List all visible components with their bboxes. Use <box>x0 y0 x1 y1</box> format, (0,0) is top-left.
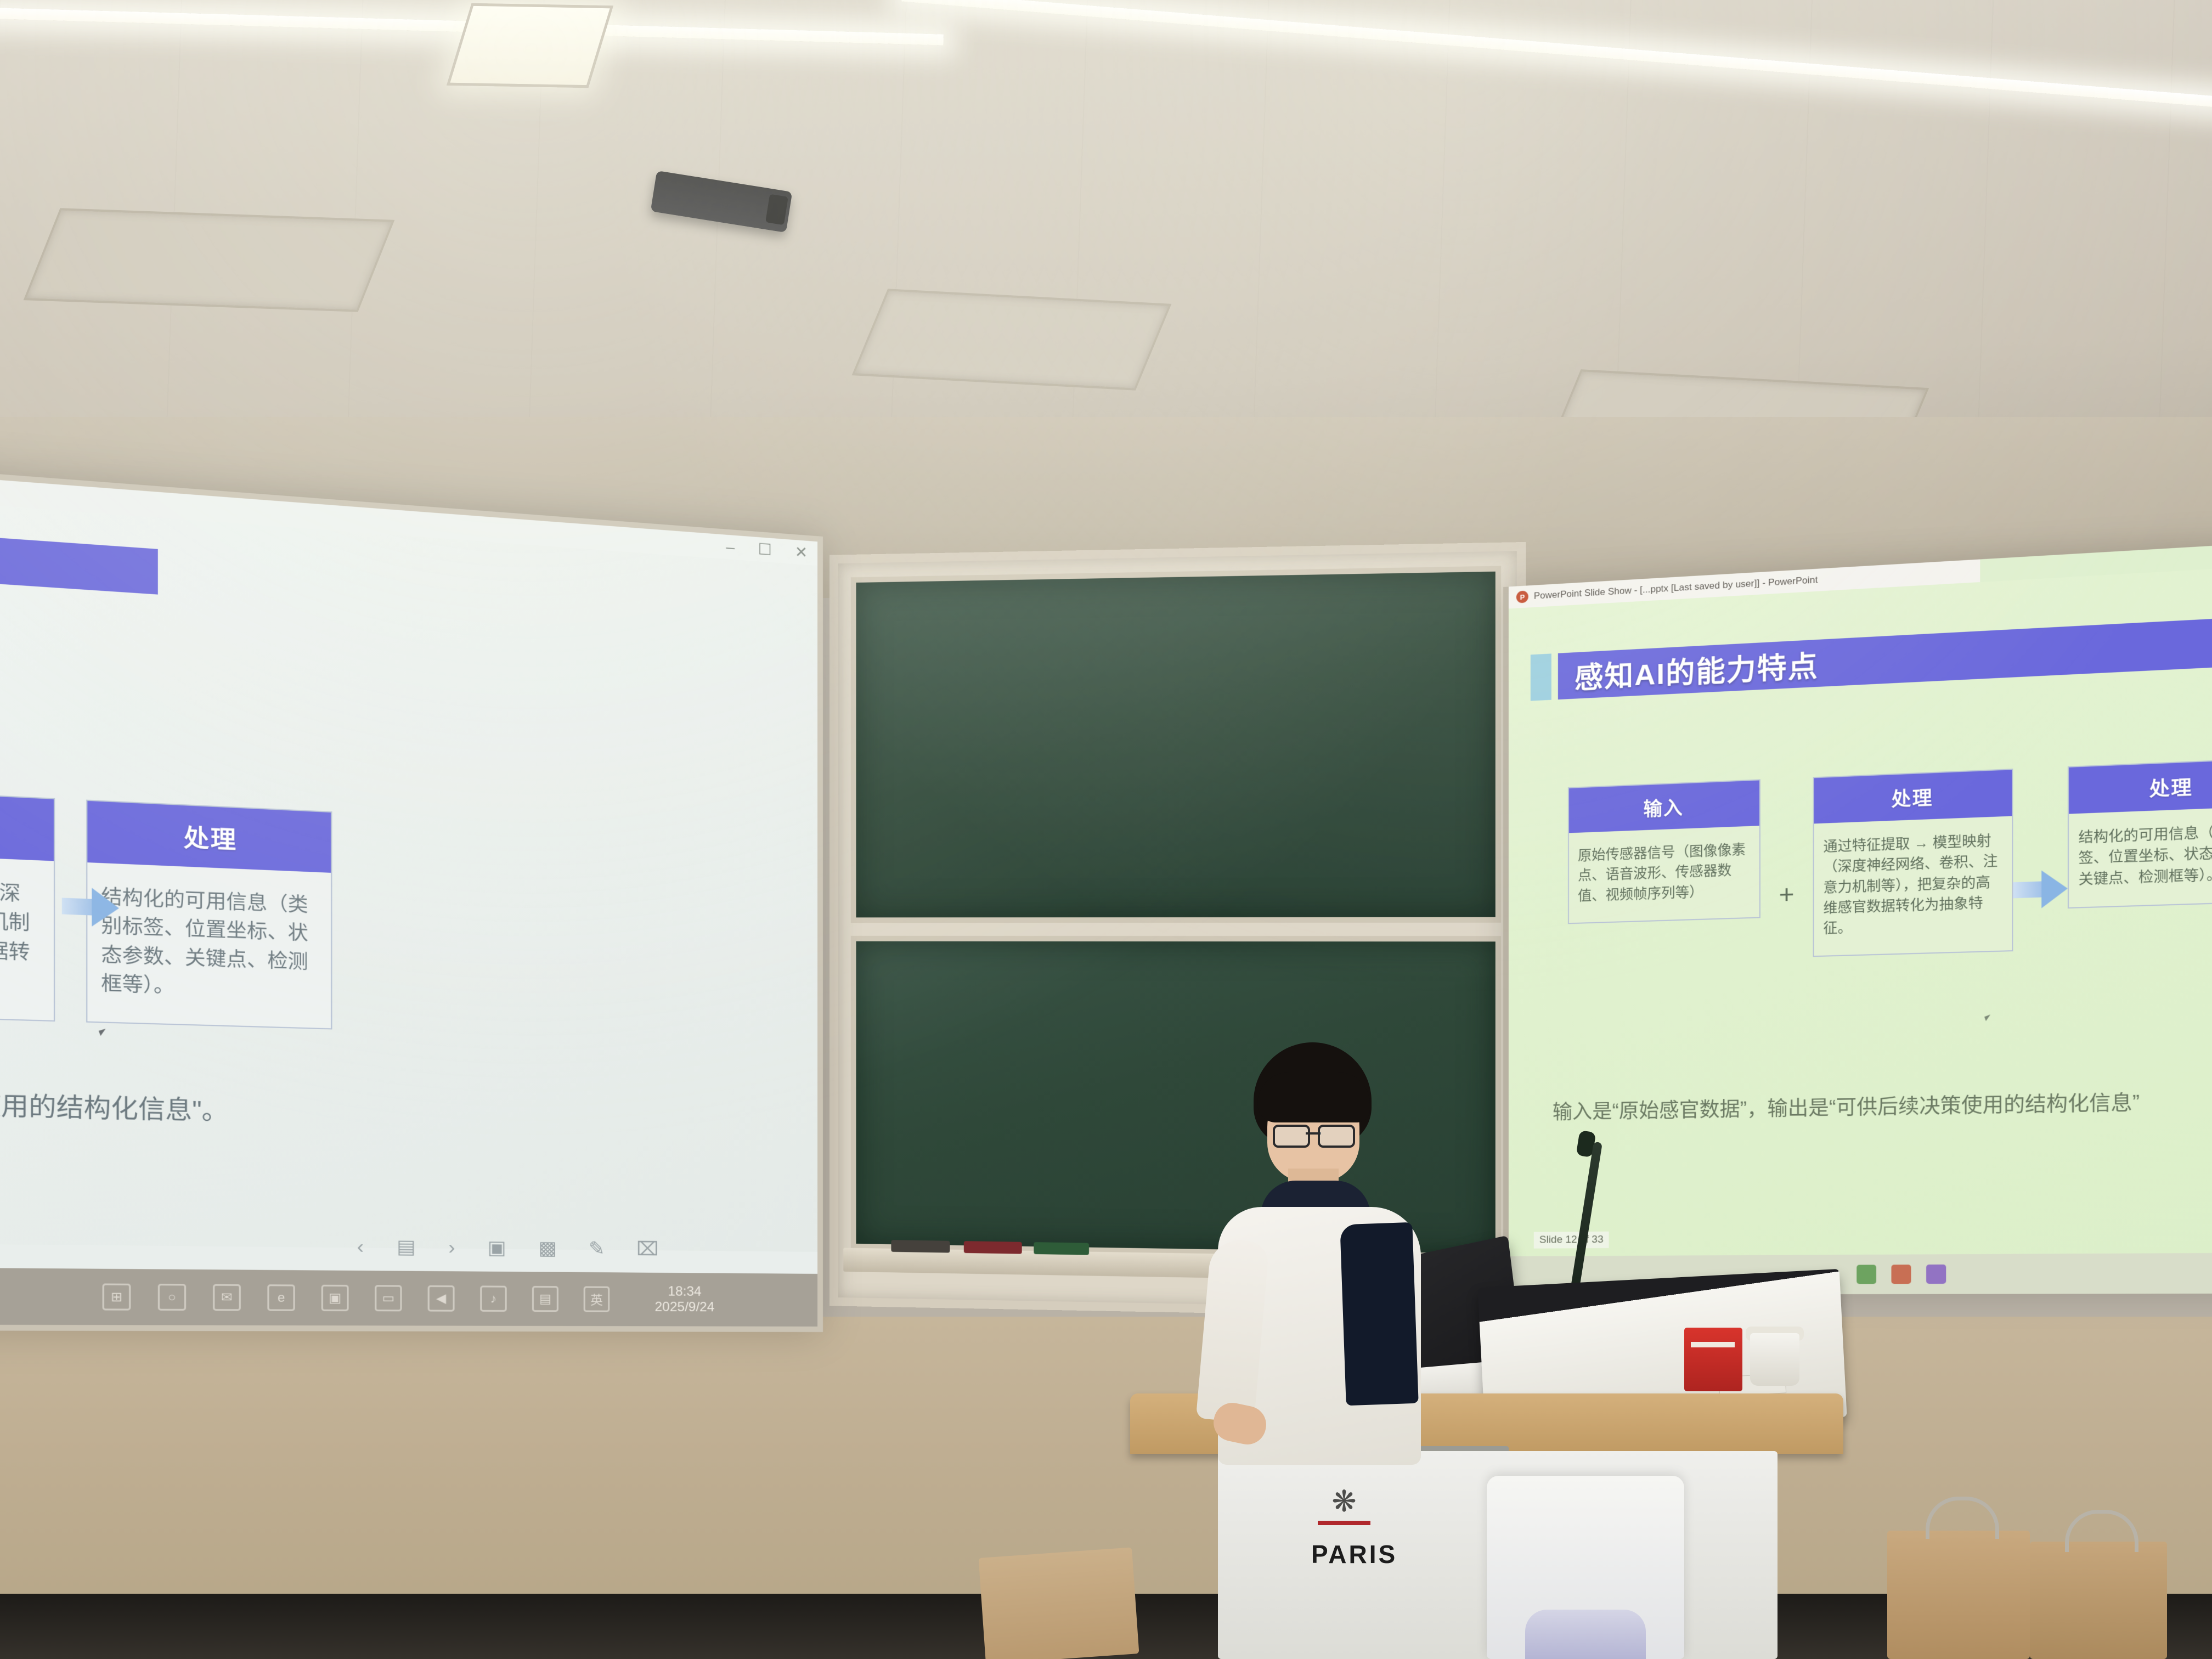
minimize-icon[interactable]: – <box>726 539 735 555</box>
left-projection-screen[interactable]: – ☐ ✕ 处理 提取 → 模型映射（深 络、卷积、注意力机制 复杂的高维感官数… <box>0 469 823 1332</box>
right-slide-canvas: 感知AI的能力特点 输入 原始传感器信号（图像像素点、语音波形、传感器数值、视频… <box>1509 566 2212 1256</box>
card-body: 提取 → 模型映射（深 络、卷积、注意力机制 复杂的高维感官数据转 特征。 <box>0 850 54 1020</box>
powerpoint-taskbar-icon[interactable] <box>1891 1265 1911 1284</box>
card-title: 处理 <box>1814 770 2012 823</box>
slide-title-band <box>0 526 158 595</box>
close-icon[interactable]: ✕ <box>795 544 808 561</box>
card-process: 处理 通过特征提取 → 模型映射（深度神经网络、卷积、注意力机制等），把复杂的高… <box>1813 769 2013 957</box>
shirt-graphic: ❋ PARIS <box>1311 1487 1377 1558</box>
shirt-emblem: ❋ <box>1311 1487 1377 1516</box>
glasses-icon <box>1273 1125 1355 1143</box>
ceiling-vent-1 <box>24 208 395 312</box>
shirt-text: PARIS <box>1311 1539 1377 1569</box>
ime-language-icon[interactable]: 英 <box>584 1286 610 1312</box>
chalk-green <box>1034 1242 1089 1255</box>
powerpoint-icon: P <box>1516 590 1528 603</box>
card-body: 结构化的可用信息（类别标签、位置坐标、状态参数、关键点、检测框等）。 <box>2069 806 2212 907</box>
arrow-right-icon <box>2013 766 2068 909</box>
paper-cup <box>1750 1333 1799 1386</box>
right-projection-screen[interactable]: P PowerPoint Slide Show - [...pptx [Last… <box>1503 542 2212 1295</box>
card-output: 处理 结构化的可用信息（类别标签、位置坐标、状态参数、关键点、检测框等）。 <box>2068 758 2212 909</box>
card-title: 处理 <box>87 801 331 873</box>
left-card-group: 处理 提取 → 模型映射（深 络、卷积、注意力机制 复杂的高维感官数据转 特征。… <box>0 786 332 1029</box>
white-tote-bag <box>1487 1476 1684 1659</box>
volume-icon[interactable]: ◀ <box>428 1285 455 1312</box>
presenter: ❋ PARIS <box>1196 1042 1426 1481</box>
chalkboard-panel-upper <box>851 566 1501 923</box>
ceiling-panel-light <box>447 3 613 88</box>
mouse-cursor <box>99 1027 113 1036</box>
all-slides-icon[interactable]: ▣ <box>488 1237 506 1260</box>
clock-date: 2025/9/24 <box>655 1300 715 1315</box>
card-title: 处理 <box>0 787 54 861</box>
app-icon[interactable] <box>1926 1265 1946 1284</box>
cortana-icon[interactable]: ○ <box>158 1284 186 1311</box>
taskbar-clock[interactable]: 18:34 2025/9/24 <box>655 1284 715 1315</box>
left-slide-canvas: 处理 提取 → 模型映射（深 络、卷积、注意力机制 复杂的高维感官数据转 特征。… <box>0 501 817 1251</box>
card-process-b: 处理 结构化的可用信息（类别标签、位置坐标、状态参数、关键点、检测框等）。 <box>86 800 332 1030</box>
maximize-icon[interactable]: ☐ <box>758 541 772 558</box>
folder-icon[interactable]: ▣ <box>321 1285 349 1311</box>
eraser <box>891 1240 950 1252</box>
display-icon[interactable]: ▭ <box>375 1285 402 1311</box>
shirt-stripe <box>1318 1521 1370 1525</box>
next-slide-icon[interactable]: › <box>448 1237 455 1259</box>
card-input: 输入 原始传感器信号（图像像素点、语音波形、传感器数值、视频帧序列等） <box>1568 779 1760 924</box>
kraft-bag-left <box>979 1547 1139 1659</box>
annotate-icon[interactable]: ✎ <box>589 1238 605 1260</box>
slideshow-nav-controls[interactable]: ‹ ▤ › ▣ ▩ ✎ ⌧ <box>357 1235 659 1260</box>
plus-separator: + <box>1760 777 1813 910</box>
excel-icon[interactable] <box>1857 1265 1876 1284</box>
edge-icon[interactable]: e <box>267 1284 295 1311</box>
clock-time: 18:34 <box>655 1284 715 1300</box>
more-options-icon[interactable]: ⌧ <box>636 1238 658 1261</box>
left-bottom-text: 可供后续决策使用的结构化信息"。 <box>0 1080 707 1136</box>
hair-fringe <box>1257 1072 1370 1122</box>
page-title: 感知AI的能力特点 <box>1558 614 2212 699</box>
card-title: 处理 <box>2069 759 2212 814</box>
windows-taskbar[interactable]: ⊞ ○ ✉ e ▣ ▭ ◀ ♪ ▤ 英 18:34 2025/9/24 <box>0 1268 823 1327</box>
start-icon[interactable]: ⊞ <box>103 1283 131 1310</box>
left-screen-surface: – ☐ ✕ 处理 提取 → 模型映射（深 络、卷积、注意力机制 复杂的高维感官数… <box>0 475 817 1327</box>
zoom-icon[interactable]: ▩ <box>538 1237 557 1260</box>
chalk-red <box>964 1241 1022 1254</box>
prev-slide-icon[interactable]: ‹ <box>357 1235 364 1258</box>
card-body: 原始传感器信号（图像像素点、语音波形、传感器数值、视频帧序列等） <box>1569 826 1759 923</box>
card-body: 结构化的可用信息（类别标签、位置坐标、状态参数、关键点、检测框等）。 <box>87 862 331 1028</box>
slide-counter: Slide 12 of 33 <box>1534 1232 1609 1249</box>
kraft-bag-right-2 <box>2030 1542 2167 1659</box>
title-accent-bar <box>1531 653 1551 701</box>
ceiling-vent-2 <box>852 289 1172 390</box>
pen-tool-icon[interactable]: ▤ <box>397 1235 415 1259</box>
mail-icon[interactable]: ✉ <box>213 1284 241 1311</box>
window-icon[interactable]: ▤ <box>532 1286 558 1312</box>
slide-title-group: 感知AI的能力特点 <box>1531 614 2212 701</box>
card-title: 输入 <box>1569 780 1759 833</box>
red-box <box>1684 1328 1742 1391</box>
card-process-a: 处理 提取 → 模型映射（深 络、卷积、注意力机制 复杂的高维感官数据转 特征。 <box>0 786 55 1022</box>
mouse-cursor <box>1984 1013 1996 1021</box>
right-bottom-text: 输入是“原始感官数据”，输出是“可供后续决策使用的结构化信息” <box>1553 1082 2212 1125</box>
right-card-group: 输入 原始传感器信号（图像像素点、语音波形、传感器数值、视频帧序列等） + 处理… <box>1568 758 2212 964</box>
dark-sleeve <box>1340 1222 1418 1406</box>
music-icon[interactable]: ♪ <box>480 1285 507 1312</box>
kraft-bag-right <box>1887 1531 2030 1659</box>
window-controls[interactable]: – ☐ ✕ <box>726 539 808 561</box>
lecture-hall-scene: – ☐ ✕ 处理 提取 → 模型映射（深 络、卷积、注意力机制 复杂的高维感官数… <box>0 0 2212 1659</box>
card-body: 通过特征提取 → 模型映射（深度神经网络、卷积、注意力机制等），把复杂的高维感官… <box>1814 816 2012 956</box>
